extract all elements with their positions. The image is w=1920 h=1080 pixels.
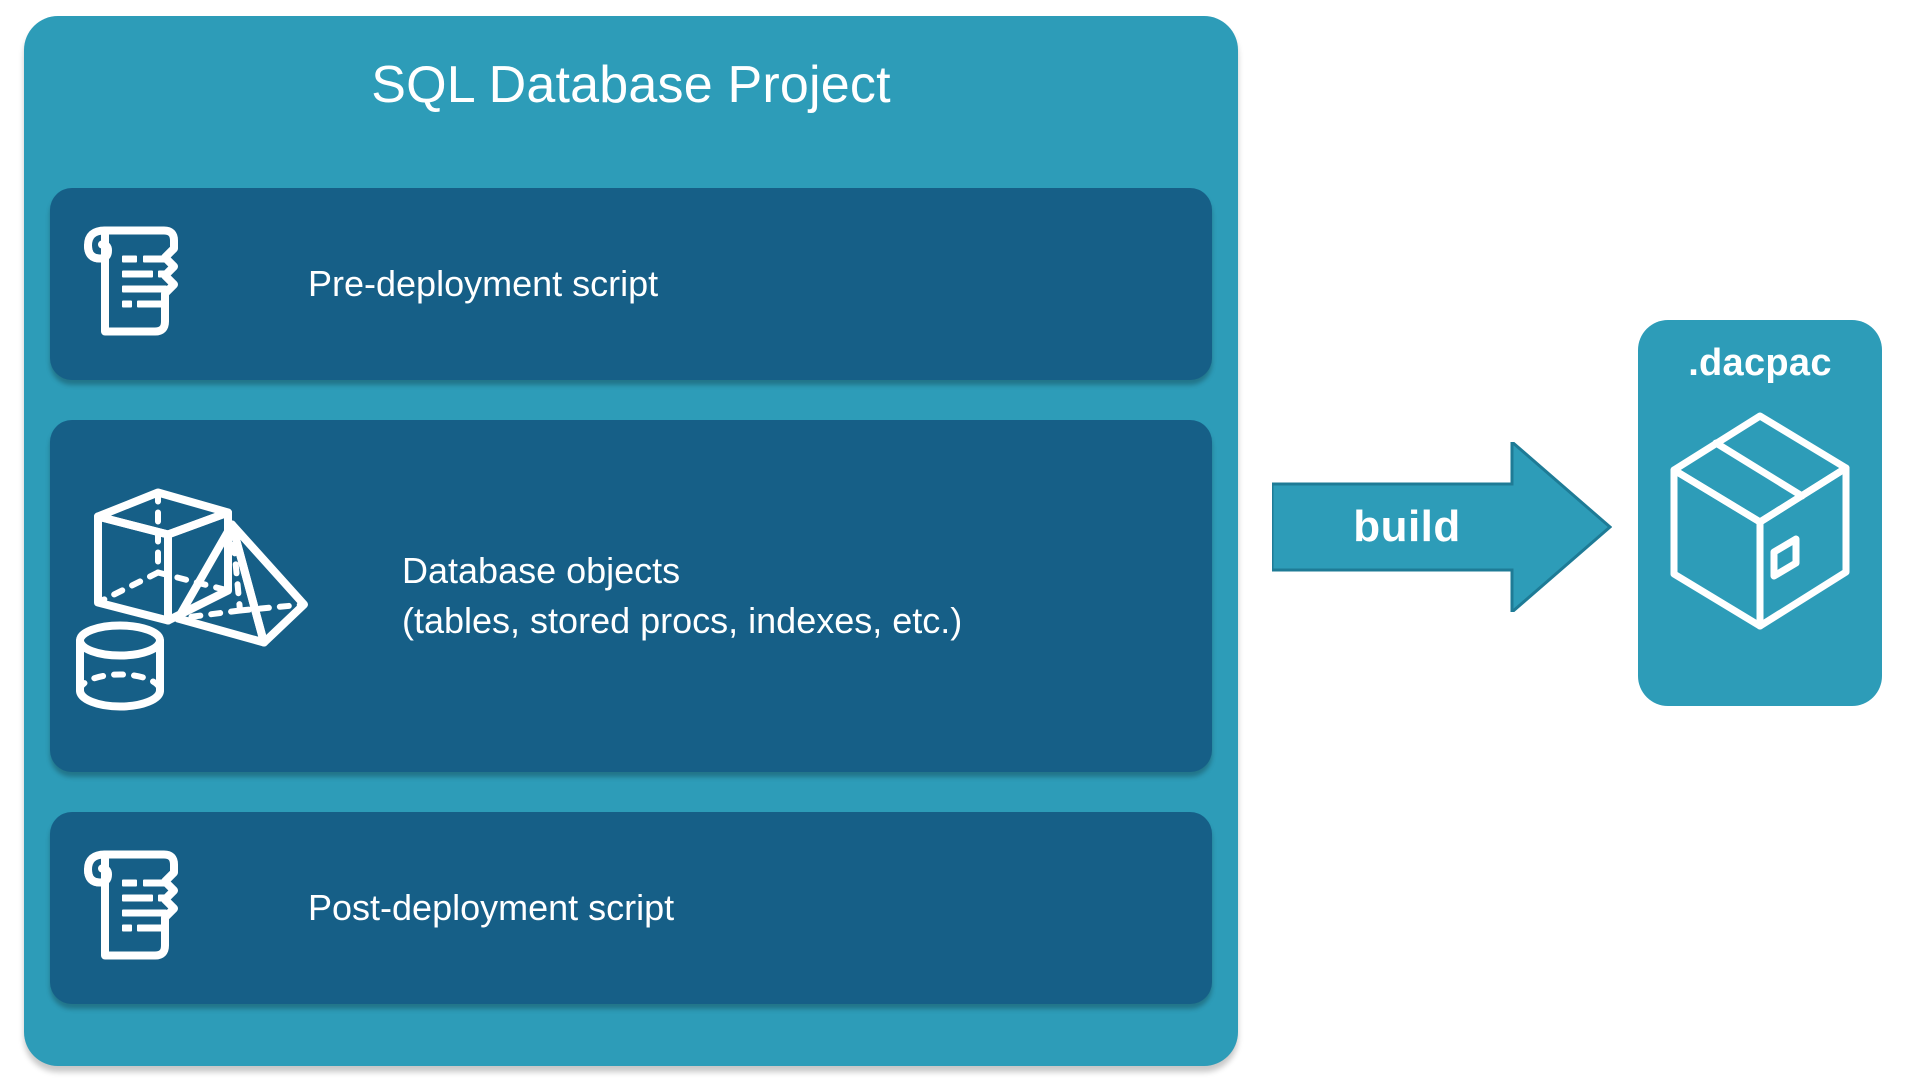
scroll-icon (72, 220, 192, 349)
post-deployment-script-row[interactable]: Post-deployment script (50, 812, 1212, 1004)
arrow-right-icon (1272, 442, 1610, 612)
pre-deployment-script-label: Pre-deployment script (308, 260, 658, 308)
scroll-icon (72, 844, 192, 973)
package-box-icon (1664, 406, 1856, 641)
sql-database-project-card: SQL Database Project (24, 16, 1238, 1066)
database-objects-label-line1: Database objects (402, 546, 962, 596)
database-objects-label-line2: (tables, stored procs, indexes, etc.) (402, 596, 962, 646)
database-objects-row[interactable]: Database objects (tables, stored procs, … (50, 420, 1212, 772)
database-objects-label-block: Database objects (tables, stored procs, … (402, 546, 962, 646)
post-deployment-script-label: Post-deployment script (308, 884, 674, 932)
project-title: SQL Database Project (24, 54, 1238, 116)
dacpac-output-card[interactable]: .dacpac (1638, 320, 1882, 706)
3d-shapes-icon (64, 469, 314, 724)
pre-deployment-script-row[interactable]: Pre-deployment script (50, 188, 1212, 380)
dacpac-label: .dacpac (1638, 342, 1882, 385)
build-arrow (1272, 442, 1612, 612)
diagram-canvas: SQL Database Project (0, 0, 1920, 1080)
